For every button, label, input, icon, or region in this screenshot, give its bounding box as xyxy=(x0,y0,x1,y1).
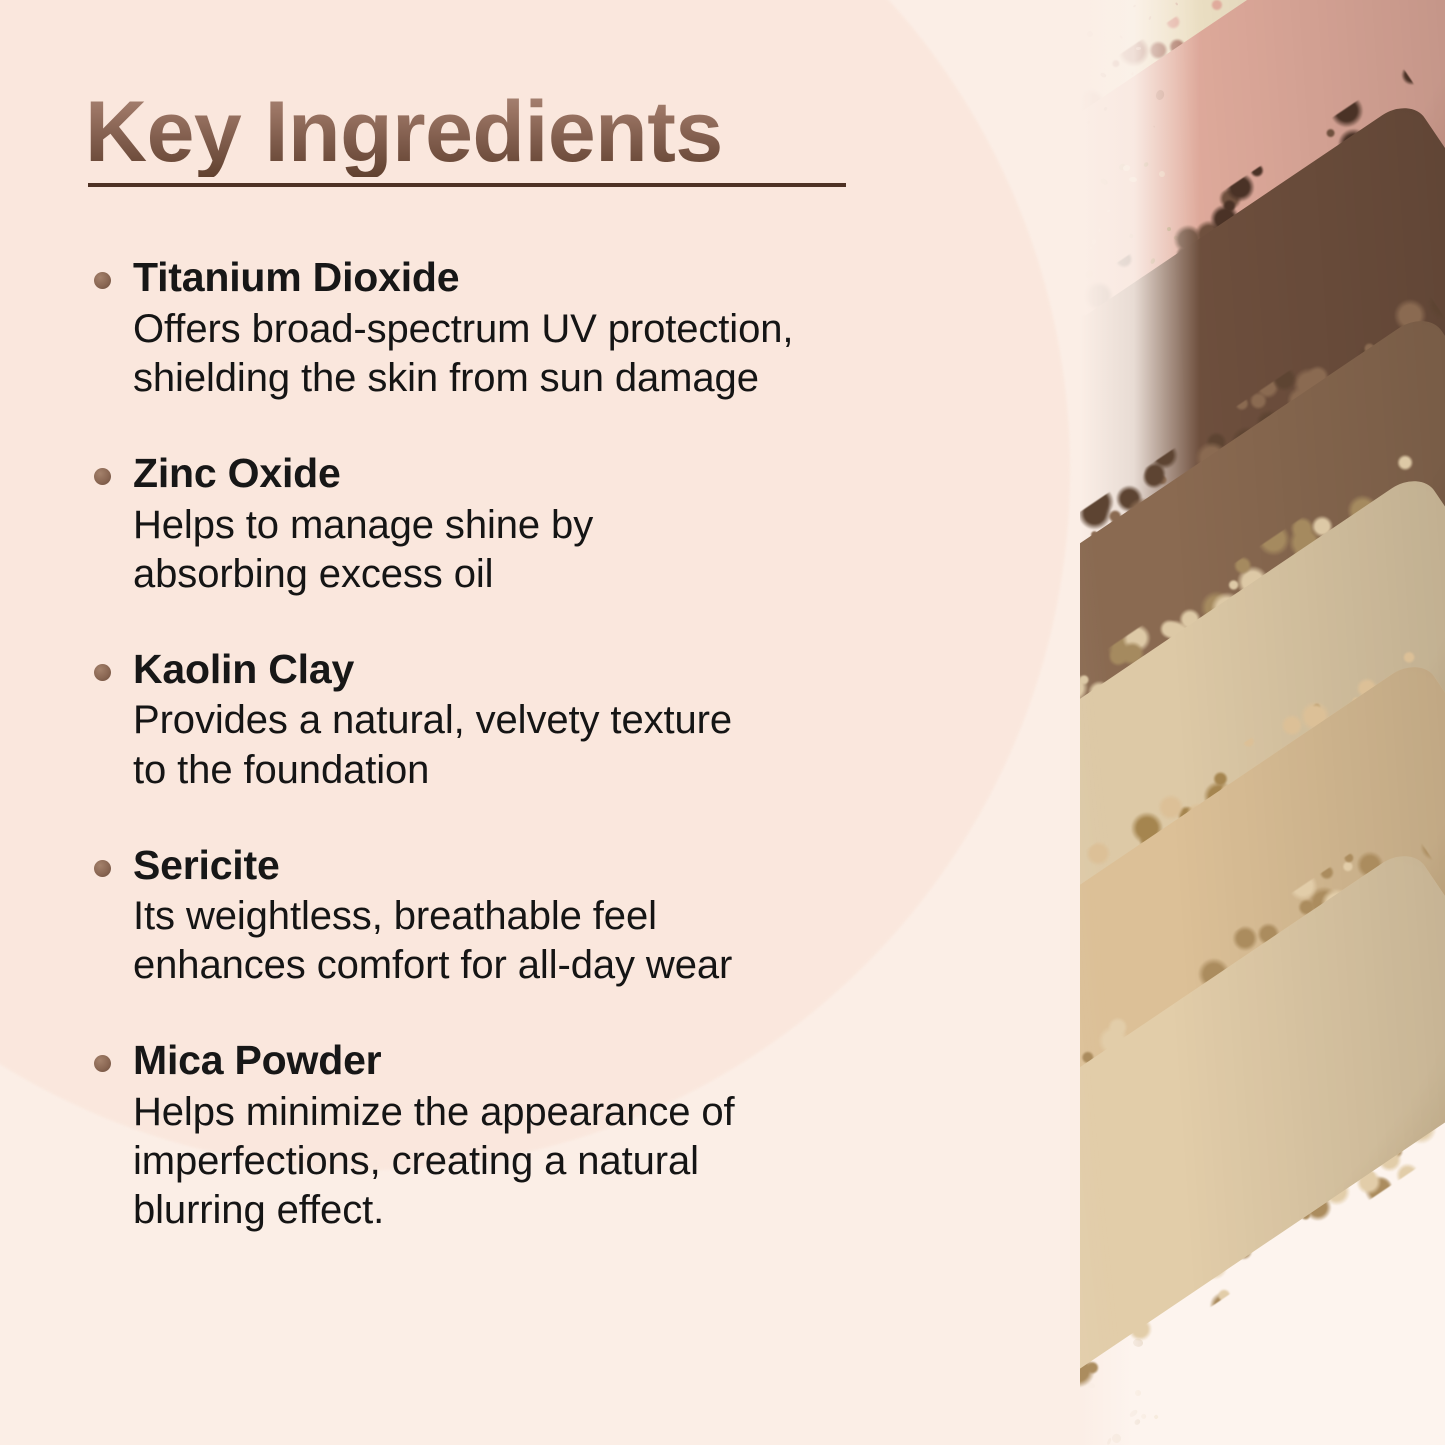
list-item: Zinc Oxide Helps to manage shine by abso… xyxy=(85,449,985,599)
ingredient-description: Helps to manage shine by absorbing exces… xyxy=(133,501,985,599)
ingredient-name: Mica Powder xyxy=(133,1036,985,1084)
page-title: Key Ingredients xyxy=(85,88,723,177)
bullet-dot-icon xyxy=(94,1055,111,1072)
ingredient-description: Offers broad-spectrum UV protection, shi… xyxy=(133,305,985,403)
ingredient-name: Zinc Oxide xyxy=(133,449,985,497)
list-item: Titanium Dioxide Offers broad-spectrum U… xyxy=(85,253,985,403)
list-item: Mica Powder Helps minimize the appearanc… xyxy=(85,1036,985,1235)
ingredient-name: Kaolin Clay xyxy=(133,645,985,693)
list-item: Kaolin Clay Provides a natural, velvety … xyxy=(85,645,985,795)
powder-swatch-image xyxy=(1080,0,1445,1445)
bullet-dot-icon xyxy=(94,664,111,681)
ingredient-description: Its weightless, breathable feel enhances… xyxy=(133,892,985,990)
list-item: Sericite Its weightless, breathable feel… xyxy=(85,841,985,991)
bullet-dot-icon xyxy=(94,468,111,485)
ingredient-description: Helps minimize the appearance of imperfe… xyxy=(133,1088,985,1236)
bullet-dot-icon xyxy=(94,272,111,289)
ingredient-list: Titanium Dioxide Offers broad-spectrum U… xyxy=(85,253,985,1235)
ingredient-name: Titanium Dioxide xyxy=(133,253,985,301)
ingredient-description: Provides a natural, velvety texture to t… xyxy=(133,696,985,794)
title-underline xyxy=(88,183,846,187)
page-title-block: Key Ingredients xyxy=(85,88,723,197)
key-ingredients-infographic: Key Ingredients Titanium Dioxide Offers … xyxy=(0,0,1445,1445)
content-column: Key Ingredients Titanium Dioxide Offers … xyxy=(0,0,1090,1445)
bullet-dot-icon xyxy=(94,860,111,877)
ingredient-name: Sericite xyxy=(133,841,985,889)
